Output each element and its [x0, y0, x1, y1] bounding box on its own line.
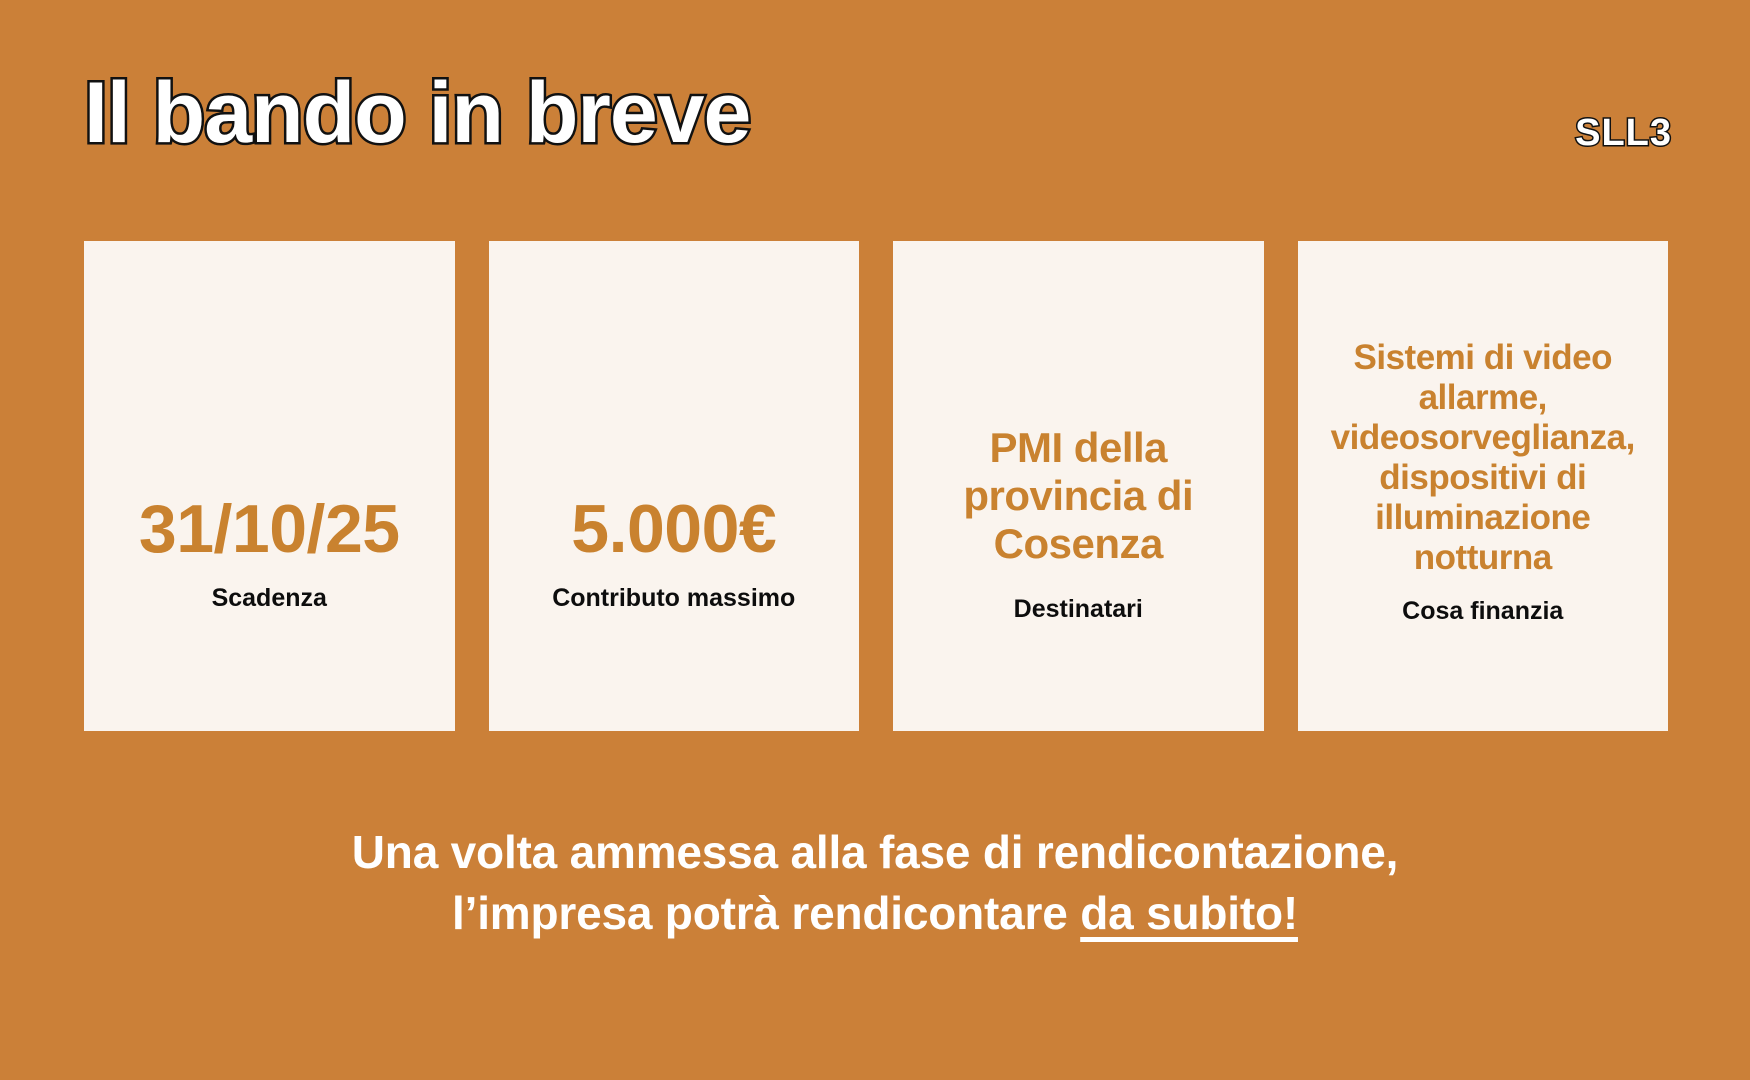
- footer-line-2-prefix: l’impresa potrà rendicontare: [452, 887, 1080, 939]
- slide-header: Il bando in breve SLL3: [0, 0, 1750, 200]
- card-label-contributo: Contributo massimo: [552, 583, 795, 613]
- card-value-scadenza: 31/10/25: [139, 491, 400, 569]
- footer-caption: Una volta ammessa alla fase di rendicont…: [0, 822, 1750, 943]
- footer-line-2: l’impresa potrà rendicontare da subito!: [120, 883, 1630, 944]
- footer-line-1: Una volta ammessa alla fase di rendicont…: [120, 822, 1630, 883]
- card-content: Sistemi di video allarme, videosorveglia…: [1312, 338, 1655, 625]
- card-contributo-massimo: 5.000€ Contributo massimo: [489, 241, 860, 731]
- slide-root: Il bando in breve SLL3 31/10/25 Scadenza…: [0, 0, 1750, 1080]
- page-title: Il bando in breve: [84, 70, 750, 156]
- card-label-scadenza: Scadenza: [212, 583, 327, 613]
- card-cosa-finanzia: Sistemi di video allarme, videosorveglia…: [1298, 241, 1669, 731]
- summary-cards-row: 31/10/25 Scadenza 5.000€ Contributo mass…: [84, 241, 1668, 731]
- card-content: 31/10/25 Scadenza: [98, 491, 441, 613]
- card-value-destinatari: PMI della provincia di Cosenza: [907, 424, 1250, 568]
- card-destinatari: PMI della provincia di Cosenza Destinata…: [893, 241, 1264, 731]
- bando-code-badge: SLL3: [1575, 114, 1672, 152]
- card-content: PMI della provincia di Cosenza Destinata…: [907, 424, 1250, 624]
- card-value-contributo: 5.000€: [571, 491, 776, 569]
- card-label-cosa-finanzia: Cosa finanzia: [1402, 596, 1563, 626]
- footer-emphasis-da-subito: da subito!: [1080, 887, 1298, 939]
- card-content: 5.000€ Contributo massimo: [503, 491, 846, 613]
- card-label-destinatari: Destinatari: [1014, 594, 1143, 624]
- card-scadenza: 31/10/25 Scadenza: [84, 241, 455, 731]
- card-value-cosa-finanzia: Sistemi di video allarme, videosorveglia…: [1312, 338, 1655, 577]
